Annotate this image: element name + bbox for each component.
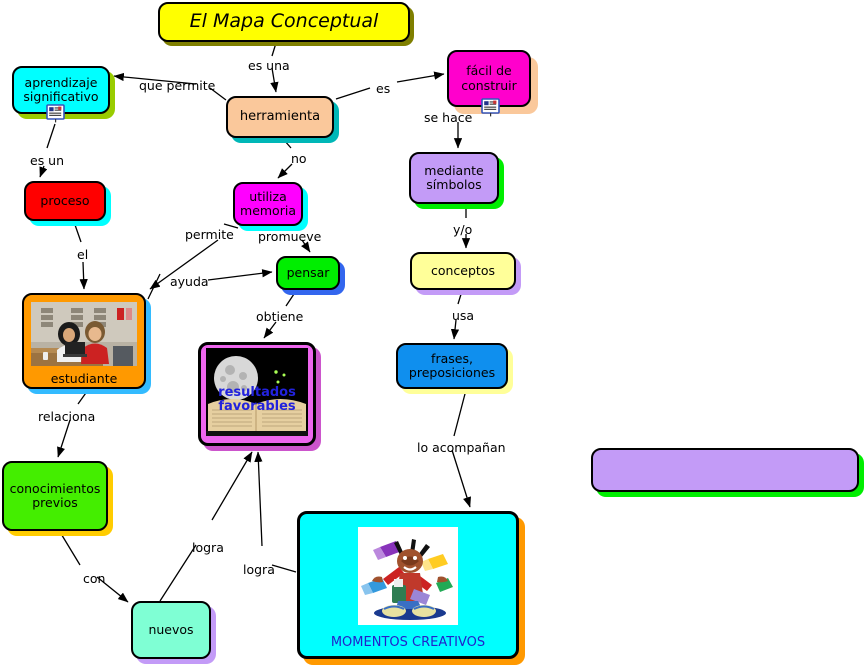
estudiante-photo	[31, 302, 137, 369]
node-titulo-label: El Mapa Conceptual	[190, 11, 379, 33]
edge-no	[278, 140, 292, 178]
edge-label-con: con	[83, 571, 105, 586]
edge-label-es-una: es una	[248, 58, 290, 73]
node-nuevos-label: nuevos	[148, 623, 193, 637]
edge-logra-momentos	[258, 452, 296, 572]
document-icon[interactable]	[46, 104, 65, 123]
node-proceso[interactable]: proceso	[24, 181, 106, 221]
node-conocimientos-label: conocimientos previos	[10, 482, 101, 511]
edge-label-usa: usa	[452, 308, 474, 323]
edge-label-promueve: promueve	[258, 229, 321, 244]
node-pensar-label: pensar	[287, 266, 330, 280]
edge-label-no: no	[291, 151, 307, 166]
node-momentos-creativos[interactable]: MOMENTOS CREATIVOS	[297, 511, 519, 659]
edge-label-es-un: es un	[30, 153, 64, 168]
node-herramienta[interactable]: herramienta	[226, 96, 334, 138]
edge-label-que-permite: que permite	[139, 78, 215, 93]
node-facil-label: fácil de construir	[461, 64, 517, 93]
node-momentos-label: MOMENTOS CREATIVOS	[331, 636, 485, 651]
edge-label-logra-momentos: logra	[243, 562, 275, 577]
node-conceptos[interactable]: conceptos	[410, 252, 516, 290]
node-nuevos[interactable]: nuevos	[131, 601, 211, 659]
node-titulo[interactable]: El Mapa Conceptual	[158, 2, 410, 42]
edge-ayuda	[148, 272, 272, 299]
node-frases-label: frases, preposiciones	[409, 352, 495, 381]
node-frases-preposiciones[interactable]: frases, preposiciones	[396, 343, 508, 389]
document-icon[interactable]	[481, 98, 500, 117]
node-estudiante[interactable]: estudiante	[22, 293, 146, 389]
node-resultados-favorables[interactable]: resultados favorables	[198, 342, 316, 446]
edge-es-un	[40, 124, 55, 177]
edge-con	[60, 532, 128, 602]
node-utiliza-memoria[interactable]: utiliza memoria	[233, 182, 303, 226]
node-proceso-label: proceso	[40, 194, 89, 208]
edge-logra-nuevos	[160, 452, 252, 601]
edge-label-es: es	[376, 81, 390, 96]
node-mediante-label: mediante símbolos	[424, 164, 483, 193]
edge-label-ayuda: ayuda	[170, 274, 209, 289]
node-mediante-simbolos[interactable]: mediante símbolos	[409, 152, 499, 204]
edge-label-el: el	[77, 247, 88, 262]
node-conceptos-label: conceptos	[431, 264, 495, 278]
edge-label-permite: permite	[185, 227, 234, 242]
edge-label-logra-nuevos: logra	[192, 540, 224, 555]
edge-label-obtiene: obtiene	[256, 309, 303, 324]
edge-label-relaciona: relaciona	[38, 409, 95, 424]
concept-map-canvas: es una que permite es es un no se hace e…	[0, 0, 867, 666]
node-pensar[interactable]: pensar	[276, 256, 340, 290]
edge-label-yo: y/o	[453, 222, 472, 237]
edge-label-se-hace: se hace	[424, 110, 472, 125]
luna-libro-photo: resultados favorables	[206, 348, 308, 440]
node-resultados-label: resultados favorables	[206, 386, 308, 415]
node-conocimientos-previos[interactable]: conocimientos previos	[2, 461, 108, 531]
node-herramienta-label: herramienta	[240, 110, 320, 125]
node-utiliza-label: utiliza memoria	[240, 190, 296, 219]
edge-label-lo-acompanan: lo acompañan	[417, 440, 506, 455]
creatividad-photo	[358, 527, 458, 629]
node-firma[interactable]	[591, 448, 859, 492]
node-aprendizaje-label: aprendizaje significativo	[23, 76, 98, 105]
node-estudiante-label: estudiante	[51, 372, 118, 386]
